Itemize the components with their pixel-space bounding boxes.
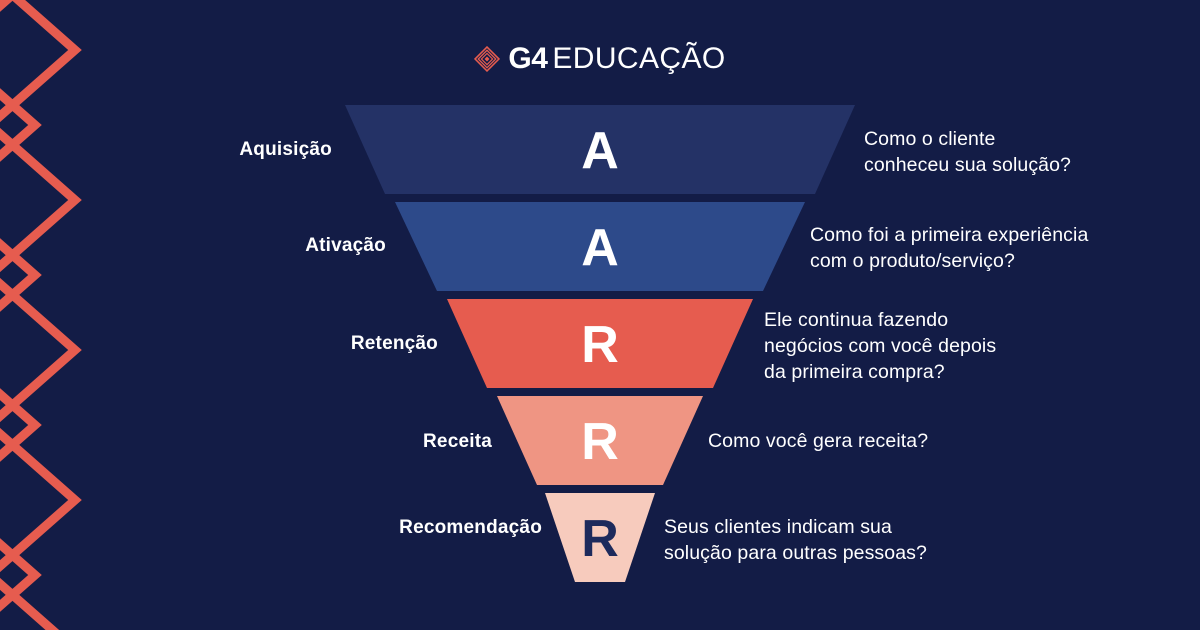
- stage-label-receita: Receita: [192, 430, 492, 454]
- funnel-segment-retencao[interactable]: R: [447, 299, 753, 388]
- funnel-letter-aquisicao: A: [581, 122, 619, 180]
- stage-label-recomendacao: Recomendação: [202, 516, 542, 540]
- description-line: Como o cliente: [864, 126, 1184, 152]
- stage-label-retencao: Retenção: [138, 332, 438, 356]
- funnel-letter-recomendacao: R: [581, 510, 619, 568]
- funnel-segment-aquisicao[interactable]: A: [345, 105, 855, 194]
- stage-label-text: Ativação: [305, 235, 386, 256]
- stage-description-aquisicao: Como o cliente conheceu sua solução?: [864, 126, 1184, 178]
- funnel-letter-retencao: R: [581, 316, 619, 374]
- description-line: Como foi a primeira experiência: [810, 222, 1190, 248]
- stage-label-text: Recomendação: [399, 517, 542, 538]
- stage-description-receita: Como você gera receita?: [708, 428, 1048, 454]
- funnel-segment-ativacao[interactable]: A: [395, 202, 805, 291]
- funnel-segment-recomendacao[interactable]: R: [545, 493, 655, 582]
- description-line: com o produto/serviço?: [810, 248, 1190, 274]
- stage-description-recomendacao: Seus clientes indicam sua solução para o…: [664, 514, 1024, 566]
- description-line: Como você gera receita?: [708, 428, 1048, 454]
- description-line: negócios com você depois: [764, 333, 1094, 359]
- stage-label-ativacao: Ativação: [86, 234, 386, 258]
- stage-label-text: Receita: [423, 431, 492, 452]
- stage-description-ativacao: Como foi a primeira experiência com o pr…: [810, 222, 1190, 274]
- description-line: da primeira compra?: [764, 359, 1094, 385]
- description-line: Seus clientes indicam sua: [664, 514, 1024, 540]
- stage-label-text: Retenção: [351, 333, 438, 354]
- stage-label-text: Aquisição: [239, 139, 332, 160]
- infographic-canvas: G4 EDUCAÇÃO A A R R R Aquis: [0, 0, 1200, 630]
- description-line: solução para outras pessoas?: [664, 540, 1024, 566]
- stage-description-retencao: Ele continua fazendo negócios com você d…: [764, 307, 1094, 385]
- funnel-letter-receita: R: [581, 413, 619, 471]
- funnel-letter-ativacao: A: [581, 219, 619, 277]
- description-line: Ele continua fazendo: [764, 307, 1094, 333]
- funnel-segment-receita[interactable]: R: [497, 396, 703, 485]
- description-line: conheceu sua solução?: [864, 152, 1184, 178]
- stage-label-aquisicao: Aquisição: [32, 138, 332, 162]
